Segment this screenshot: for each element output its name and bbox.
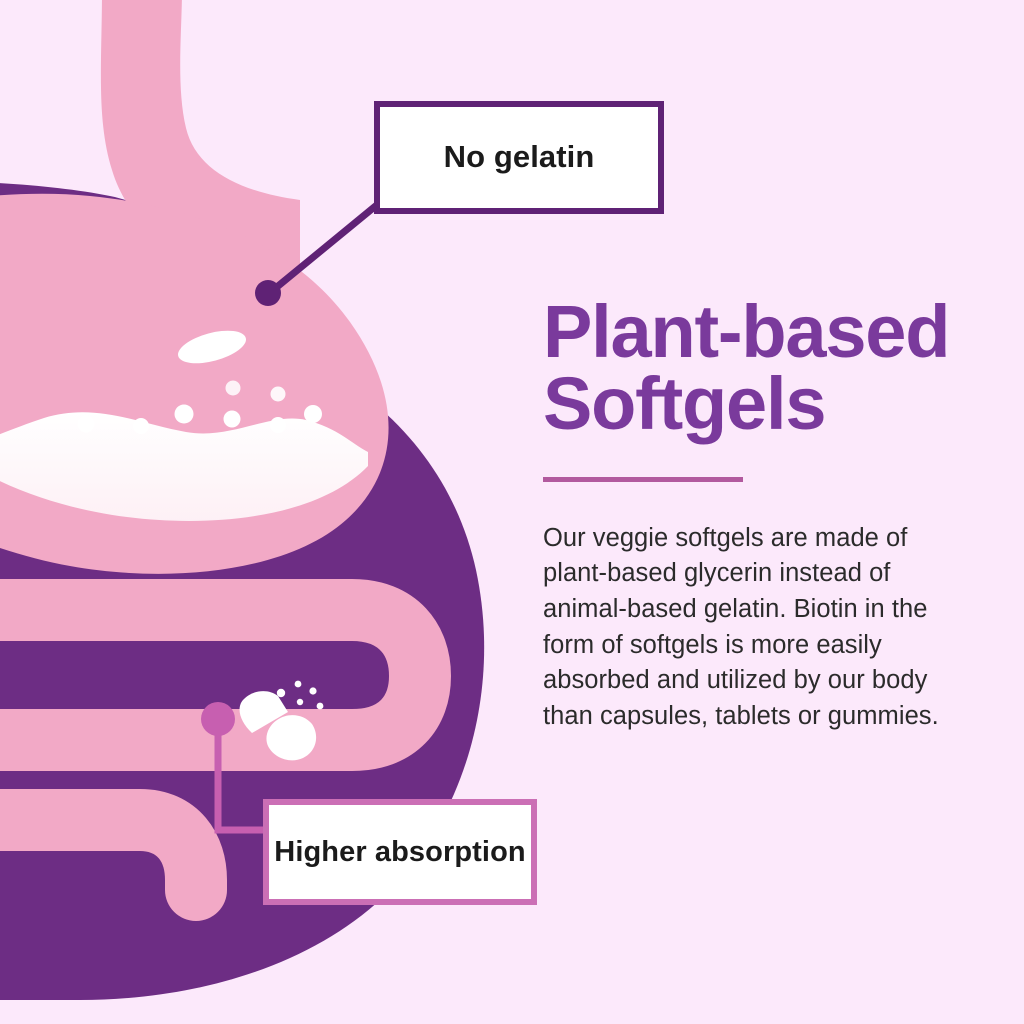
callout-no-gelatin-label: No gelatin <box>444 139 595 176</box>
text-column: Plant-based Softgels Our veggie softgels… <box>543 296 1013 735</box>
callout-higher-absorption[interactable]: Higher absorption <box>263 799 537 905</box>
infographic-canvas: No gelatin Higher absorption Plant-based… <box>0 0 1024 1024</box>
page-title: Plant-based Softgels <box>543 296 1013 440</box>
body-paragraph: Our veggie softgels are made of plant-ba… <box>543 521 975 735</box>
divider <box>543 477 743 482</box>
callout-higher-absorption-label: Higher absorption <box>274 835 525 869</box>
callout-no-gelatin[interactable]: No gelatin <box>374 101 664 214</box>
